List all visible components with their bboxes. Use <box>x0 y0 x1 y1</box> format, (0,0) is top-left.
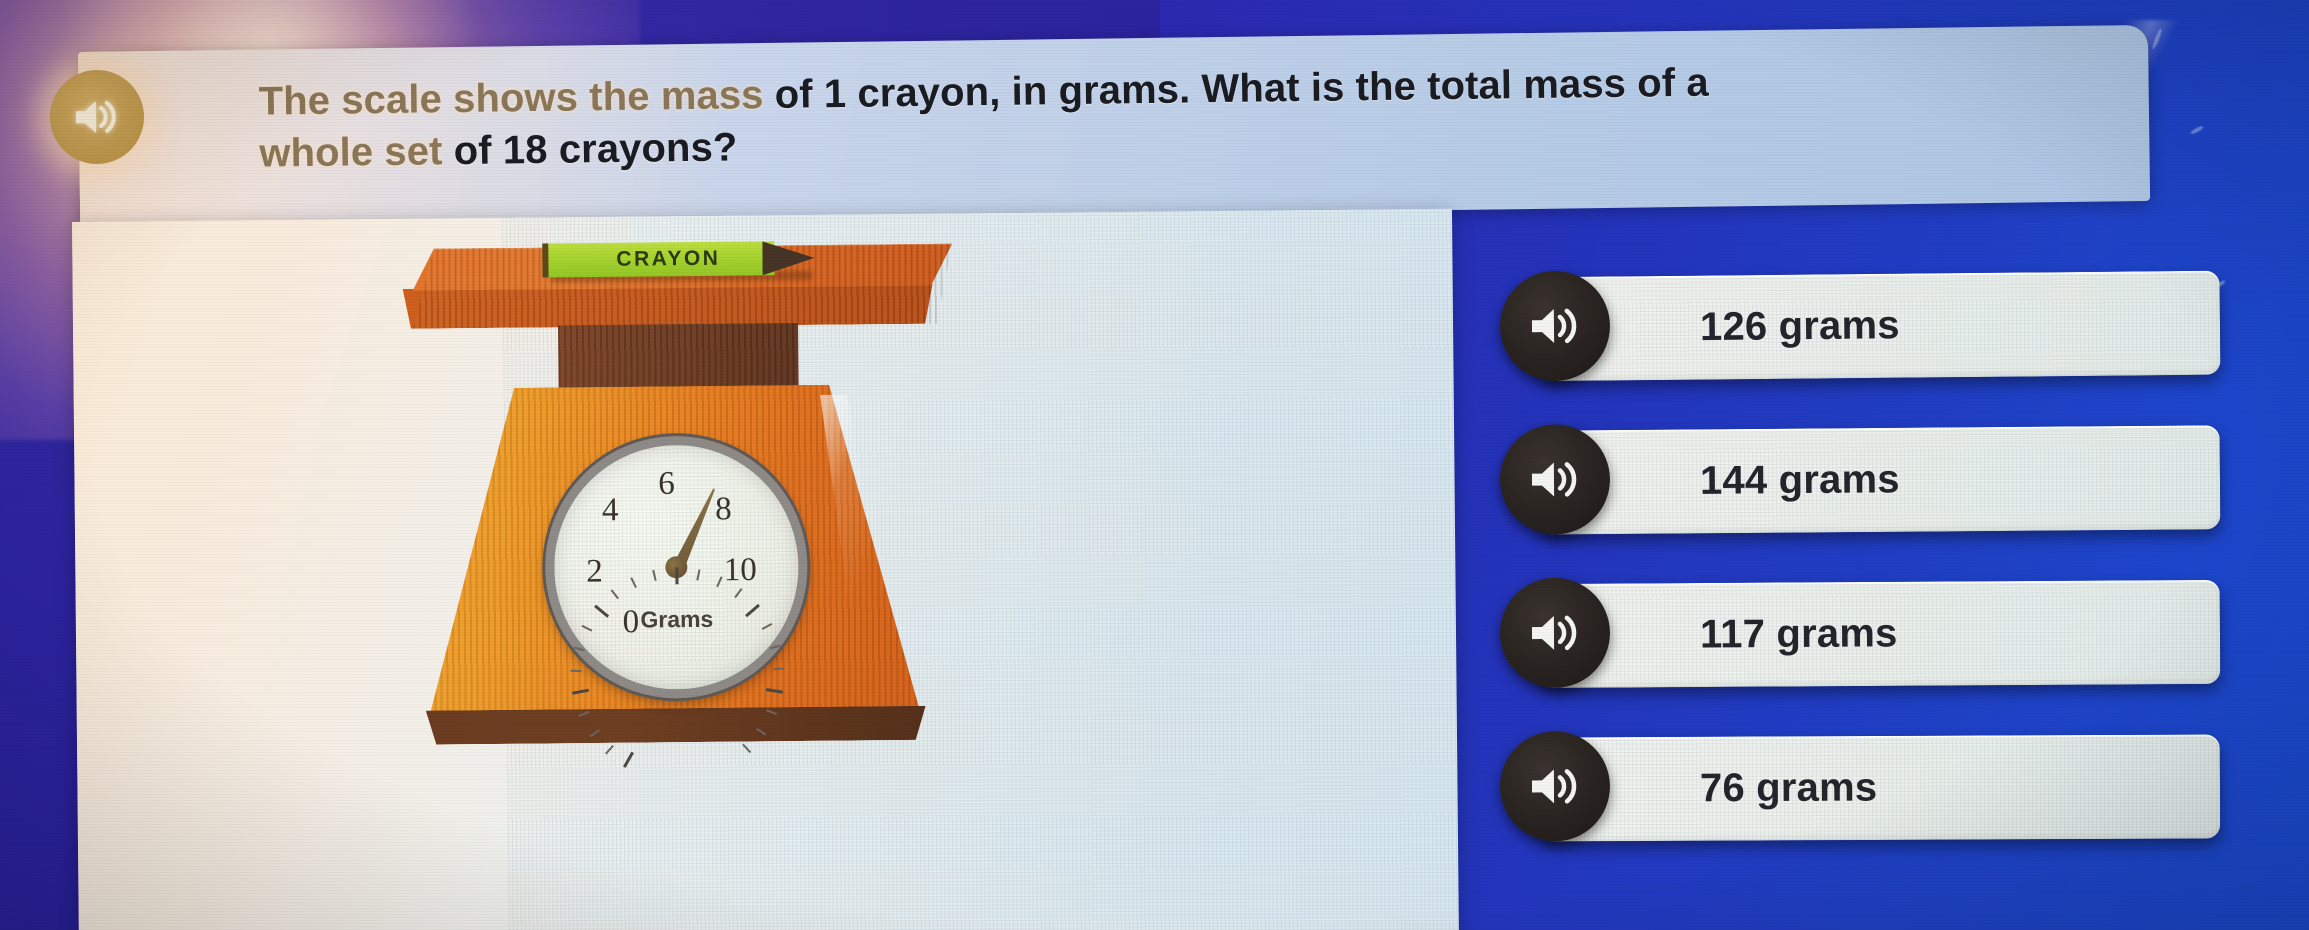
answer-option-label: 144 grams <box>1700 457 1900 504</box>
question-card: The scale shows the mass of 1 crayon, in… <box>78 25 2150 228</box>
answer-option-label: 126 grams <box>1700 303 1900 350</box>
speaker-icon <box>1527 304 1583 349</box>
question-text-line1-rest: of 1 crayon, in grams. What is the total… <box>763 61 1709 117</box>
answer-option[interactable]: 144 grams <box>1500 419 2241 543</box>
answer-option-label: 117 grams <box>1700 611 1898 657</box>
crayon-label: CRAYON <box>578 245 758 273</box>
question-text-line2-washed: whole set <box>259 129 443 175</box>
dial-tick-label: 8 <box>715 492 732 529</box>
answer-speaker-button[interactable] <box>1500 424 1611 535</box>
crayon: CRAYON <box>542 241 812 278</box>
speaker-icon <box>1527 611 1583 655</box>
dial-tick-label: 2 <box>586 553 603 590</box>
answer-option-pill[interactable]: 117 grams <box>1540 580 2221 688</box>
answer-speaker-button[interactable] <box>1499 270 1610 381</box>
scale-base <box>421 706 931 745</box>
answer-option-pill[interactable]: 76 grams <box>1540 734 2220 841</box>
crayon-body: CRAYON <box>542 241 774 277</box>
dial-tick-label: 0 <box>622 604 639 641</box>
answer-options-list: 126 grams144 grams117 grams76 grams <box>1500 268 2240 884</box>
answer-speaker-button[interactable] <box>1500 578 1611 689</box>
answer-option-pill[interactable]: 144 grams <box>1540 425 2221 534</box>
answer-option[interactable]: 117 grams <box>1500 574 2241 697</box>
answer-option-pill[interactable]: 126 grams <box>1540 271 2221 382</box>
speaker-icon <box>72 97 123 138</box>
screenshot-root: The scale shows the mass of 1 crayon, in… <box>0 0 2309 930</box>
scale-tray-side <box>403 284 933 329</box>
answer-option[interactable]: 126 grams <box>1499 264 2240 389</box>
scale-neck <box>558 323 799 393</box>
answer-speaker-button[interactable] <box>1500 731 1610 841</box>
dial-tick-label: 6 <box>658 466 675 503</box>
speaker-icon <box>1527 457 1583 501</box>
dial-tick-label: 4 <box>602 493 619 530</box>
speaker-icon <box>1527 764 1583 808</box>
question-text-line1-washed: The scale shows the mass <box>258 73 763 124</box>
answer-option[interactable]: 76 grams <box>1500 728 2241 849</box>
kitchen-scale-illustration: CRAYON Grams 0246810 <box>402 243 968 868</box>
question-text-line2-rest: of 18 crayons? <box>442 125 737 173</box>
scale-dial: Grams 0246810 <box>544 435 809 700</box>
dial-tick-label: 10 <box>724 552 757 589</box>
content-panel: CRAYON Grams 0246810 <box>72 209 1459 930</box>
answer-option-label: 76 grams <box>1700 765 1877 811</box>
